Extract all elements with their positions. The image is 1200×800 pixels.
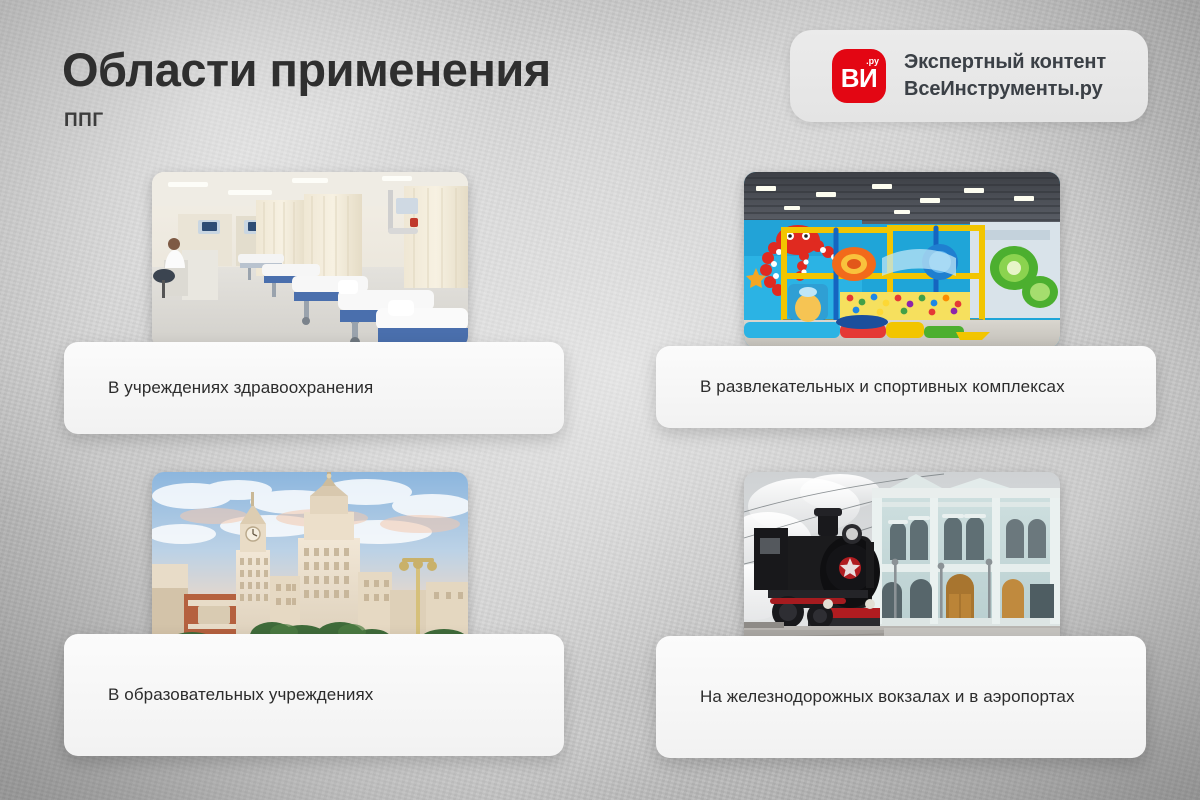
vseinstrumenty-logo-icon: ВИ .ру <box>832 49 886 103</box>
caption-text-entertainment: В развлекательных и спортивных комплекса… <box>656 374 1065 400</box>
caption-text-education: В образовательных учреждениях <box>64 682 373 708</box>
caption-text-transport: На железнодорожных вокзалах и в аэропорт… <box>656 684 1075 710</box>
brand-badge[interactable]: ВИ .ру Экспертный контент ВсеИнструменты… <box>790 30 1148 122</box>
hospital-ward-photo <box>152 172 468 348</box>
caption-card-healthcare[interactable]: В учреждениях здравоохранения <box>64 342 564 434</box>
caption-card-transport[interactable]: На железнодорожных вокзалах и в аэропорт… <box>656 636 1146 758</box>
slide-canvas: Области применения ППГ ВИ .ру Экспертный… <box>0 0 1200 800</box>
caption-card-education[interactable]: В образовательных учреждениях <box>64 634 564 756</box>
brand-line-1: Экспертный контент <box>904 51 1106 74</box>
brand-text: Экспертный контент ВсеИнструменты.ру <box>904 51 1106 101</box>
brand-line-2: ВсеИнструменты.ру <box>904 78 1106 101</box>
page-subtitle: ППГ <box>64 110 104 132</box>
railway-station-photo <box>744 472 1060 648</box>
indoor-playground-photo <box>744 172 1060 348</box>
university-building-photo <box>152 472 468 648</box>
caption-text-healthcare: В учреждениях здравоохранения <box>64 375 373 401</box>
caption-card-entertainment[interactable]: В развлекательных и спортивных комплекса… <box>656 346 1156 428</box>
page-title: Области применения <box>62 45 551 94</box>
logo-mark-label: ВИ <box>841 65 877 91</box>
logo-tld-label: .ру <box>866 57 879 66</box>
